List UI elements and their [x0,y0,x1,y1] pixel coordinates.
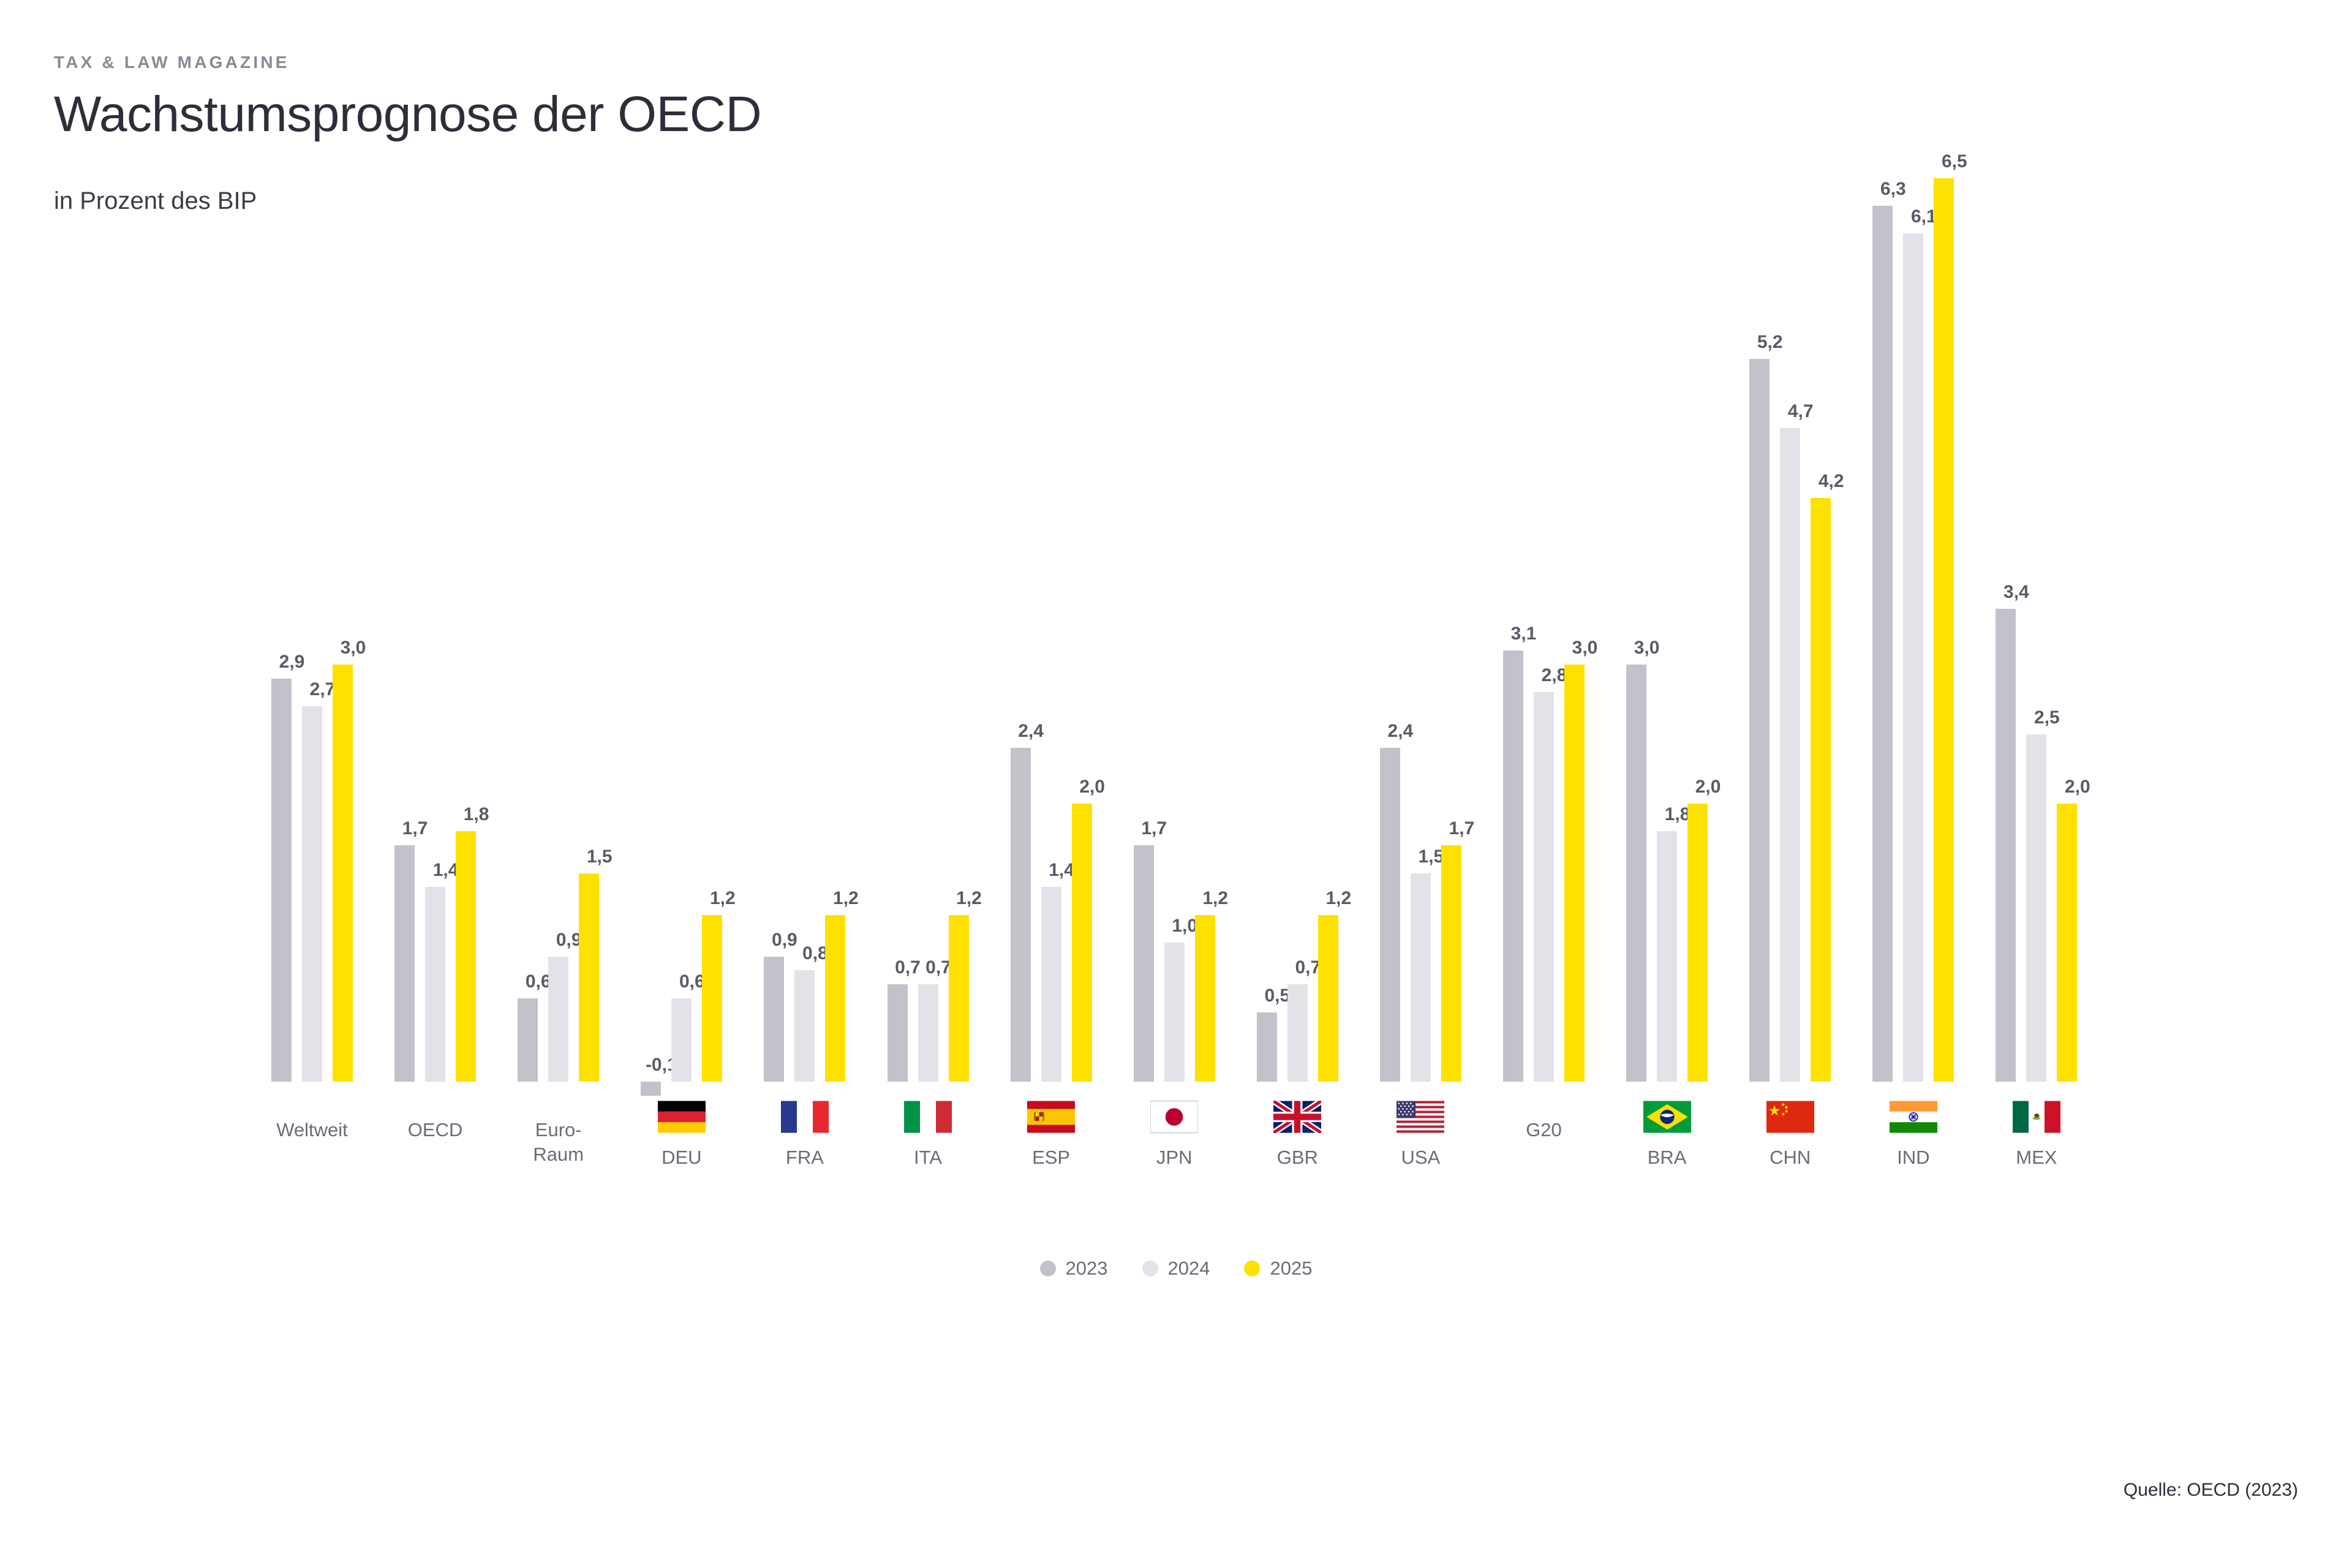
bar-OECD-2025 [456,831,476,1082]
value-label-Weltweit-2025: 3,0 [335,639,372,657]
legend-label-2025: 2025 [1270,1259,1312,1278]
bar-USA-2024 [1411,873,1431,1082]
bar-GBR-2024 [1287,984,1308,1082]
bar-FRA-2024 [794,970,815,1082]
value-label-MEX-2025: 2,0 [2059,778,2096,796]
bar-Weltweit-2023 [271,679,292,1082]
value-label-OECD-2025: 1,8 [458,805,495,824]
bar-BRA-2023 [1626,665,1646,1082]
value-label-ESP-2025: 2,0 [1074,778,1110,796]
bar-G20-2025 [1564,665,1585,1082]
category-label-GBR: GBR [1227,1145,1368,1170]
category-label-Weltweit: Weltweit [242,1118,383,1142]
bar-BRA-2025 [1687,804,1708,1082]
bar-DEU-2025 [702,915,722,1082]
value-label-JPN-2025: 1,2 [1197,889,1234,908]
legend-label-2024: 2024 [1168,1259,1210,1278]
category-label-FRA: FRA [734,1145,875,1170]
value-label-OECD-2023: 1,7 [397,820,434,838]
bar-Euro-Raum-2025 [579,873,599,1082]
bar-GBR-2025 [1318,915,1338,1082]
bar-JPN-2024 [1164,943,1185,1082]
value-label-Weltweit-2023: 2,9 [274,653,311,671]
legend-dot-2024 [1142,1261,1158,1276]
flag-br-icon [1643,1101,1691,1133]
value-label-G20-2023: 3,1 [1506,625,1542,643]
flag-mx-icon [2013,1101,2060,1133]
category-label-DEU: DEU [611,1145,752,1170]
flag-gb-icon [1273,1101,1321,1133]
bar-Weltweit-2024 [302,706,322,1082]
category-label-CHN: CHN [1720,1145,1861,1170]
category-label-JPN: JPN [1104,1145,1245,1170]
value-label-IND-2025: 6,5 [1936,153,1973,171]
bar-ESP-2024 [1041,887,1061,1082]
category-label-G20: G20 [1474,1118,1615,1142]
bar-ITA-2025 [949,915,969,1082]
bar-JPN-2025 [1195,915,1215,1082]
bar-CHN-2024 [1780,428,1800,1082]
flag-de-icon [658,1101,706,1133]
source-note: Quelle: OECD (2023) [2124,1481,2298,1499]
category-label-USA: USA [1350,1145,1491,1170]
flag-jp-icon [1150,1101,1198,1133]
bar-USA-2023 [1380,748,1400,1082]
bar-ITA-2023 [888,984,908,1082]
bar-FRA-2023 [764,957,784,1082]
value-label-FRA-2025: 1,2 [827,889,864,908]
bar-ESP-2023 [1011,748,1031,1082]
bar-ITA-2024 [918,984,938,1082]
bar-USA-2025 [1441,845,1461,1082]
bar-FRA-2025 [825,915,845,1082]
value-label-MEX-2023: 3,4 [1998,583,2035,601]
bar-DEU-2024 [671,998,692,1082]
bar-CHN-2025 [1811,498,1831,1082]
legend-item-2023[interactable]: 2023 [1040,1259,1108,1278]
flag-es-icon [1027,1101,1075,1133]
bar-IND-2024 [1903,233,1923,1082]
value-label-BRA-2023: 3,0 [1629,639,1665,657]
category-label-IND: IND [1843,1145,1984,1170]
category-label-ESP: ESP [981,1145,1121,1170]
bar-ESP-2025 [1072,804,1092,1082]
bar-G20-2023 [1503,650,1523,1082]
value-label-GBR-2025: 1,2 [1320,889,1357,908]
value-label-ITA-2025: 1,2 [951,889,987,908]
bar-IND-2025 [1934,178,1954,1082]
bar-Euro-Raum-2024 [548,957,568,1082]
value-label-JPN-2023: 1,7 [1136,820,1172,838]
value-label-ESP-2023: 2,4 [1012,722,1049,741]
legend-dot-2025 [1244,1261,1260,1276]
value-label-CHN-2024: 4,7 [1782,402,1819,421]
value-label-MEX-2024: 2,5 [2029,709,2065,727]
bar-MEX-2025 [2057,804,2077,1082]
bar-DEU-2023 [641,1082,661,1096]
value-label-CHN-2023: 5,2 [1752,333,1789,352]
flag-cn-icon [1766,1101,1814,1133]
category-label-ITA: ITA [858,1145,998,1170]
legend-dot-2023 [1040,1261,1056,1276]
bar-OECD-2023 [394,845,415,1082]
value-label-G20-2025: 3,0 [1567,639,1604,657]
bar-CHN-2023 [1749,359,1770,1082]
flag-in-icon [1890,1101,1937,1133]
bar-BRA-2024 [1657,831,1677,1082]
category-label-OECD: OECD [365,1118,506,1142]
category-label-BRA: BRA [1597,1145,1738,1170]
bar-G20-2024 [1534,692,1554,1082]
bar-MEX-2024 [2026,734,2046,1082]
value-label-BRA-2025: 2,0 [1690,778,1727,796]
bar-OECD-2024 [425,887,445,1082]
flag-fr-icon [781,1101,829,1133]
value-label-USA-2023: 2,4 [1382,722,1419,741]
bar-IND-2023 [1872,206,1893,1082]
flag-us-icon [1396,1101,1444,1133]
chart-legend: 202320242025 [0,1259,2352,1278]
value-label-IND-2023: 6,3 [1875,180,1912,198]
legend-item-2025[interactable]: 2025 [1244,1259,1312,1278]
category-label-MEX: MEX [1966,1145,2107,1170]
bar-Weltweit-2025 [333,665,353,1082]
value-label-Euro-Raum-2025: 1,5 [581,848,618,866]
legend-label-2023: 2023 [1066,1259,1108,1278]
value-label-USA-2025: 1,7 [1443,820,1480,838]
bar-Euro-Raum-2023 [518,998,538,1082]
bar-GBR-2023 [1257,1012,1277,1082]
flag-it-icon [904,1101,952,1133]
bar-MEX-2023 [1996,609,2016,1082]
value-label-CHN-2025: 4,2 [1813,472,1850,491]
value-label-DEU-2025: 1,2 [704,889,741,908]
bar-chart-plot: 2,92,73,0Weltweit1,71,41,8OECD0,60,91,5E… [0,0,2352,1568]
bar-JPN-2023 [1134,845,1154,1082]
category-label-Euro-Raum: Euro- Raum [488,1118,629,1166]
legend-item-2024[interactable]: 2024 [1142,1259,1210,1278]
